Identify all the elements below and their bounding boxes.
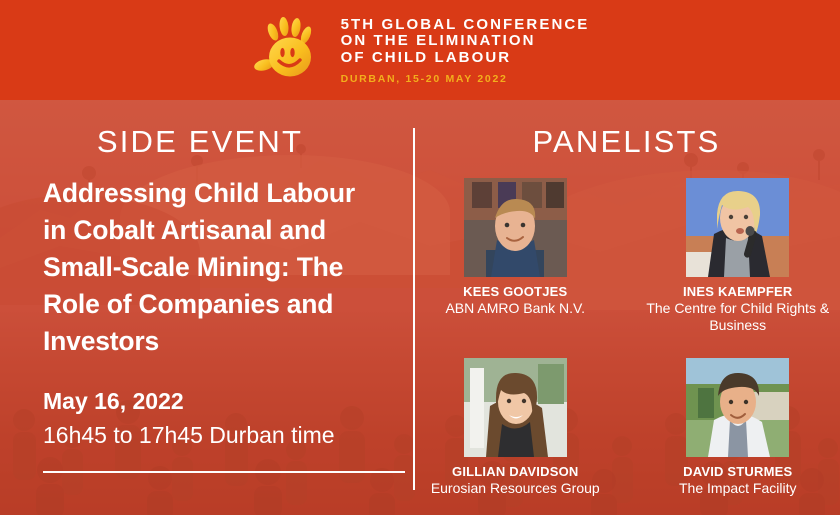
event-time: 16h45 to 17h45 Durban time xyxy=(43,422,335,449)
event-title: Addressing Child Labour in Cobalt Artisa… xyxy=(43,175,383,360)
conference-location-dates: DURBAN, 15-20 MAY 2022 xyxy=(341,73,590,85)
event-poster: 5TH GLOBAL CONFERENCE ON THE ELIMINATION… xyxy=(0,0,840,515)
conference-header-bar: 5TH GLOBAL CONFERENCE ON THE ELIMINATION… xyxy=(0,0,840,100)
portrait-kees-gootjes xyxy=(464,178,567,277)
panelists-heading: PANELISTS xyxy=(413,124,840,160)
handprint-smiley-logo-icon xyxy=(251,14,323,86)
conference-title-line-2: ON THE ELIMINATION xyxy=(341,33,590,50)
panelist-name: INES KAEMPFER xyxy=(636,284,840,299)
panelist-card: DAVID STURMES The Impact Facility xyxy=(636,358,840,497)
panelist-organization: ABN AMRO Bank N.V. xyxy=(413,300,618,317)
portrait-gillian-davidson xyxy=(464,358,567,457)
side-event-column: SIDE EVENT Addressing Child Labour in Co… xyxy=(0,100,413,515)
panelist-card: INES KAEMPFER The Centre for Child Right… xyxy=(636,178,840,334)
panelist-organization: Eurosian Resources Group xyxy=(413,480,618,497)
panelist-card: KEES GOOTJES ABN AMRO Bank N.V. xyxy=(413,178,618,334)
poster-body: SIDE EVENT Addressing Child Labour in Co… xyxy=(0,100,840,515)
conference-title-block: 5TH GLOBAL CONFERENCE ON THE ELIMINATION… xyxy=(341,15,590,86)
conference-title-line-3: OF CHILD LABOUR xyxy=(341,50,590,67)
portrait-ines-kaempfer xyxy=(686,178,789,277)
event-date: May 16, 2022 xyxy=(43,388,184,415)
panelists-column: PANELISTS xyxy=(413,100,840,515)
panelist-organization: The Impact Facility xyxy=(636,480,840,497)
panelist-name: GILLIAN DAVIDSON xyxy=(413,464,618,479)
portrait-david-sturmes xyxy=(686,358,789,457)
side-event-heading: SIDE EVENT xyxy=(0,124,400,160)
panelist-organization: The Centre for Child Rights & Business xyxy=(636,300,840,334)
panelist-name: KEES GOOTJES xyxy=(413,284,618,299)
horizontal-rule xyxy=(43,471,405,473)
panelists-grid: KEES GOOTJES ABN AMRO Bank N.V. xyxy=(413,178,840,497)
panelist-card: GILLIAN DAVIDSON Eurosian Resources Grou… xyxy=(413,358,618,497)
panelist-name: DAVID STURMES xyxy=(636,464,840,479)
conference-title-line-1: 5TH GLOBAL CONFERENCE xyxy=(341,17,590,34)
